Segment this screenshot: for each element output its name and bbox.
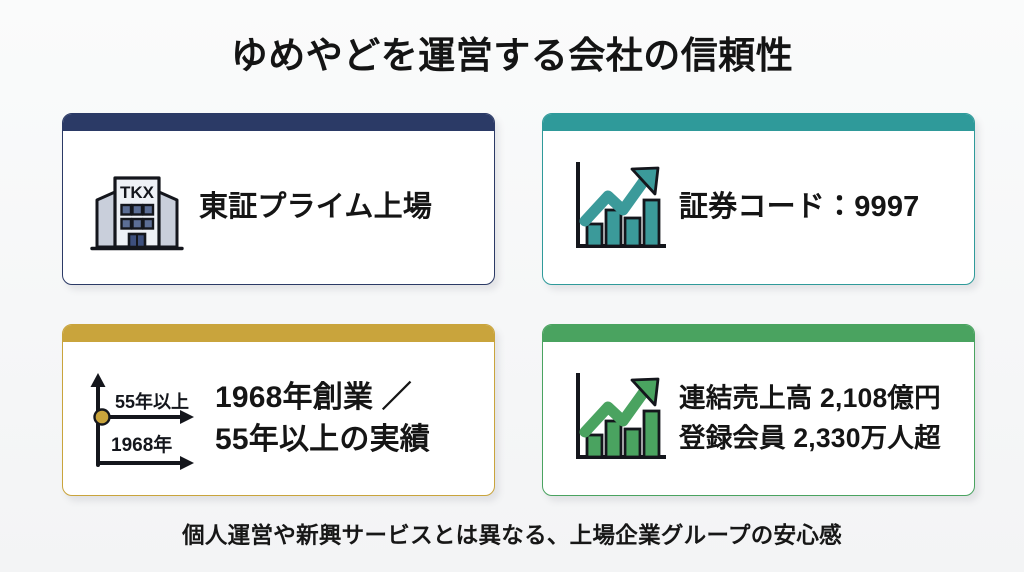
card-text-line: 1968年創業 ／ xyxy=(215,377,486,418)
card-accent-bar xyxy=(63,114,494,131)
card-accent-bar xyxy=(63,325,494,342)
card-text: 東証プライム上場 xyxy=(193,189,486,226)
card-text-line: 55年以上の実績 xyxy=(215,419,486,460)
card-text: 1968年創業 ／ 55年以上の実績 xyxy=(209,377,486,460)
card-body: TKX 東証プライム上場 xyxy=(63,135,494,264)
trust-card-grid: TKX 東証プライム上場 xyxy=(62,113,975,496)
card-body: 55年以上 1968年 1968年創業 ／ 55年以上の実績 xyxy=(63,346,494,475)
slide-root: ゆめやどを運営する会社の信頼性 xyxy=(0,0,1024,572)
card-revenue[interactable]: 連結売上高 2,108億円 登録会員 2,330万人超 xyxy=(542,324,975,496)
growth-bar-chart-icon xyxy=(561,152,673,264)
office-building-icon: TKX xyxy=(81,152,193,264)
card-body: 連結売上高 2,108億円 登録会員 2,330万人超 xyxy=(543,346,974,475)
card-text-line: 東証プライム上場 xyxy=(199,189,486,226)
timeline-label-top: 55年以上 xyxy=(115,391,189,412)
card-text: 証券コード：9997 xyxy=(673,189,966,226)
building-sign-label: TKX xyxy=(120,183,155,202)
timeline-arrow-icon: 55年以上 1968年 xyxy=(81,363,209,475)
card-text-line: 登録会員 2,330万人超 xyxy=(679,419,966,459)
footer-caption: 個人運営や新興サービスとは異なる、上場企業グループの安心感 xyxy=(0,518,1024,550)
page-title: ゆめやどを運営する会社の信頼性 xyxy=(0,33,1024,79)
card-text: 連結売上高 2,108億円 登録会員 2,330万人超 xyxy=(673,379,966,459)
card-text-line: 連結売上高 2,108億円 xyxy=(679,379,966,419)
card-listing[interactable]: TKX 東証プライム上場 xyxy=(62,113,495,285)
card-accent-bar xyxy=(543,114,974,131)
timeline-label-bottom: 1968年 xyxy=(111,433,172,456)
card-body: 証券コード：9997 xyxy=(543,135,974,264)
card-text-line: 証券コード：9997 xyxy=(679,189,966,226)
growth-bar-chart-icon xyxy=(561,363,673,475)
card-accent-bar xyxy=(543,325,974,342)
card-securities-code[interactable]: 証券コード：9997 xyxy=(542,113,975,285)
card-founded[interactable]: 55年以上 1968年 1968年創業 ／ 55年以上の実績 xyxy=(62,324,495,496)
